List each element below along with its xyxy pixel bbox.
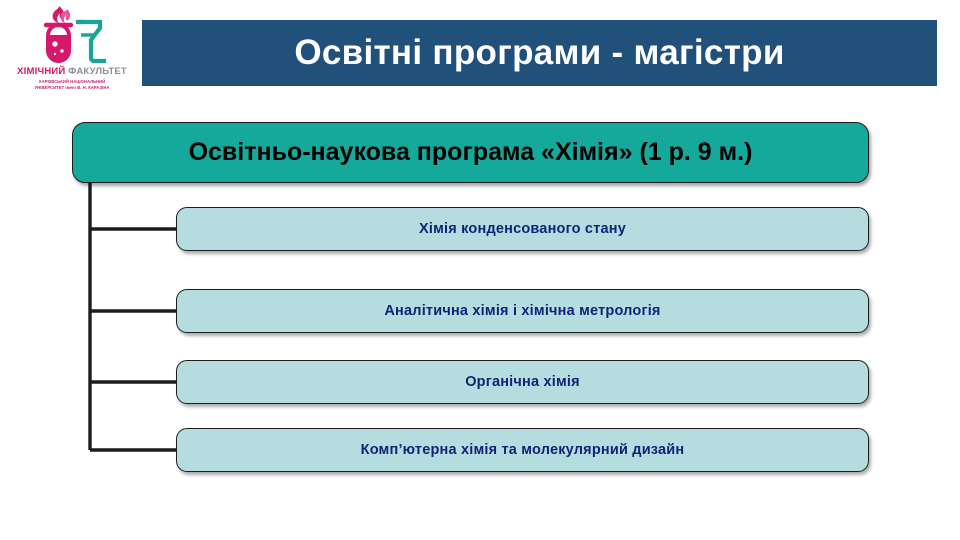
specialization-label-1: Аналітична хімія і хімічна метрологія: [384, 303, 660, 319]
specialization-node-2[interactable]: Органічна хімія: [176, 360, 869, 404]
specialization-label-0: Хімія конденсованого стану: [419, 221, 626, 237]
program-root-label: Освітньо-наукова програма «Хімія» (1 р. …: [189, 138, 753, 167]
specialization-node-3[interactable]: Комп’ютерна хімія та молекулярний дизайн: [176, 428, 869, 472]
program-root-node[interactable]: Освітньо-наукова програма «Хімія» (1 р. …: [72, 122, 869, 183]
specialization-label-2: Органічна хімія: [465, 374, 580, 390]
specialization-label-3: Комп’ютерна хімія та молекулярний дизайн: [361, 442, 685, 458]
specialization-node-0[interactable]: Хімія конденсованого стану: [176, 207, 869, 251]
specialization-node-1[interactable]: Аналітична хімія і хімічна метрологія: [176, 289, 869, 333]
